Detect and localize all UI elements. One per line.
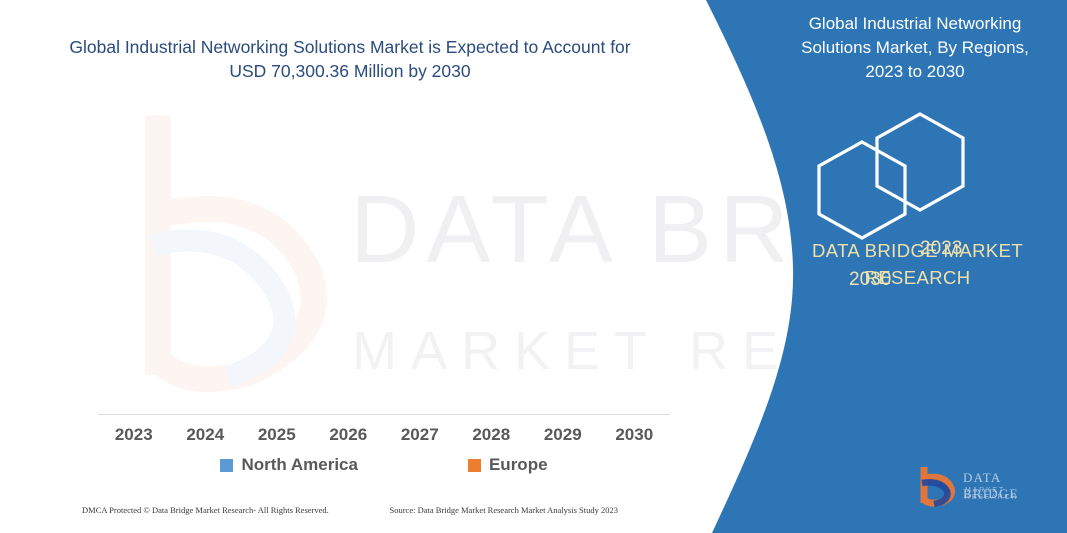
legend-label: North America (241, 455, 358, 475)
hexagon-group: 2030 2023 (800, 110, 1050, 220)
plot-area (98, 118, 670, 415)
legend-item[interactable]: Europe (468, 455, 548, 475)
hexagon-2023-icon (877, 114, 963, 210)
x-axis-label: 2024 (170, 425, 242, 445)
panel-title: Global Industrial Networking Solutions M… (780, 12, 1050, 84)
brand-name: DATA BRIDGE MARKET RESEARCH (785, 238, 1050, 292)
x-axis-label: 2025 (241, 425, 313, 445)
legend-item[interactable]: North America (220, 455, 358, 475)
x-axis-label: 2023 (98, 425, 170, 445)
corner-logo: DATA BRIDGE MARKET RESEARCH (915, 462, 1060, 510)
chart-panel: Global Industrial Networking Solutions M… (0, 0, 760, 533)
x-axis-label: 2030 (599, 425, 671, 445)
x-axis-label: 2028 (456, 425, 528, 445)
bar-slot (98, 118, 170, 414)
bar-slot (313, 118, 385, 414)
legend-swatch-icon (468, 459, 481, 472)
x-axis-label: 2026 (313, 425, 385, 445)
logo-text-sub: MARKET RESEARCH (965, 487, 1060, 501)
bar-slot (599, 118, 671, 414)
footer: DMCA Protected © Data Bridge Market Rese… (0, 505, 700, 515)
infographic-root: DATA BRIDGE MARKET RESEARCH Global Indus… (0, 0, 1067, 533)
bar-slot (170, 118, 242, 414)
bar-slot (241, 118, 313, 414)
x-axis-label: 2029 (527, 425, 599, 445)
chart-title: Global Industrial Networking Solutions M… (60, 36, 640, 83)
chart-legend: North AmericaEurope (98, 455, 670, 475)
x-axis-label: 2027 (384, 425, 456, 445)
bar-slot (456, 118, 528, 414)
legend-swatch-icon (220, 459, 233, 472)
x-axis-labels: 20232024202520262027202820292030 (98, 425, 670, 445)
footer-source: Source: Data Bridge Market Research Mark… (389, 505, 618, 515)
hexagon-2030-icon (819, 142, 905, 238)
bar-slot (527, 118, 599, 414)
x-axis-line (98, 414, 670, 415)
bar-slot (384, 118, 456, 414)
legend-label: Europe (489, 455, 548, 475)
bar-group (98, 118, 670, 414)
hexagon-shapes (800, 110, 1050, 240)
panel-content: Global Industrial Networking Solutions M… (790, 0, 1067, 533)
footer-copyright: DMCA Protected © Data Bridge Market Rese… (82, 505, 329, 515)
logo-mark-icon (915, 462, 961, 508)
